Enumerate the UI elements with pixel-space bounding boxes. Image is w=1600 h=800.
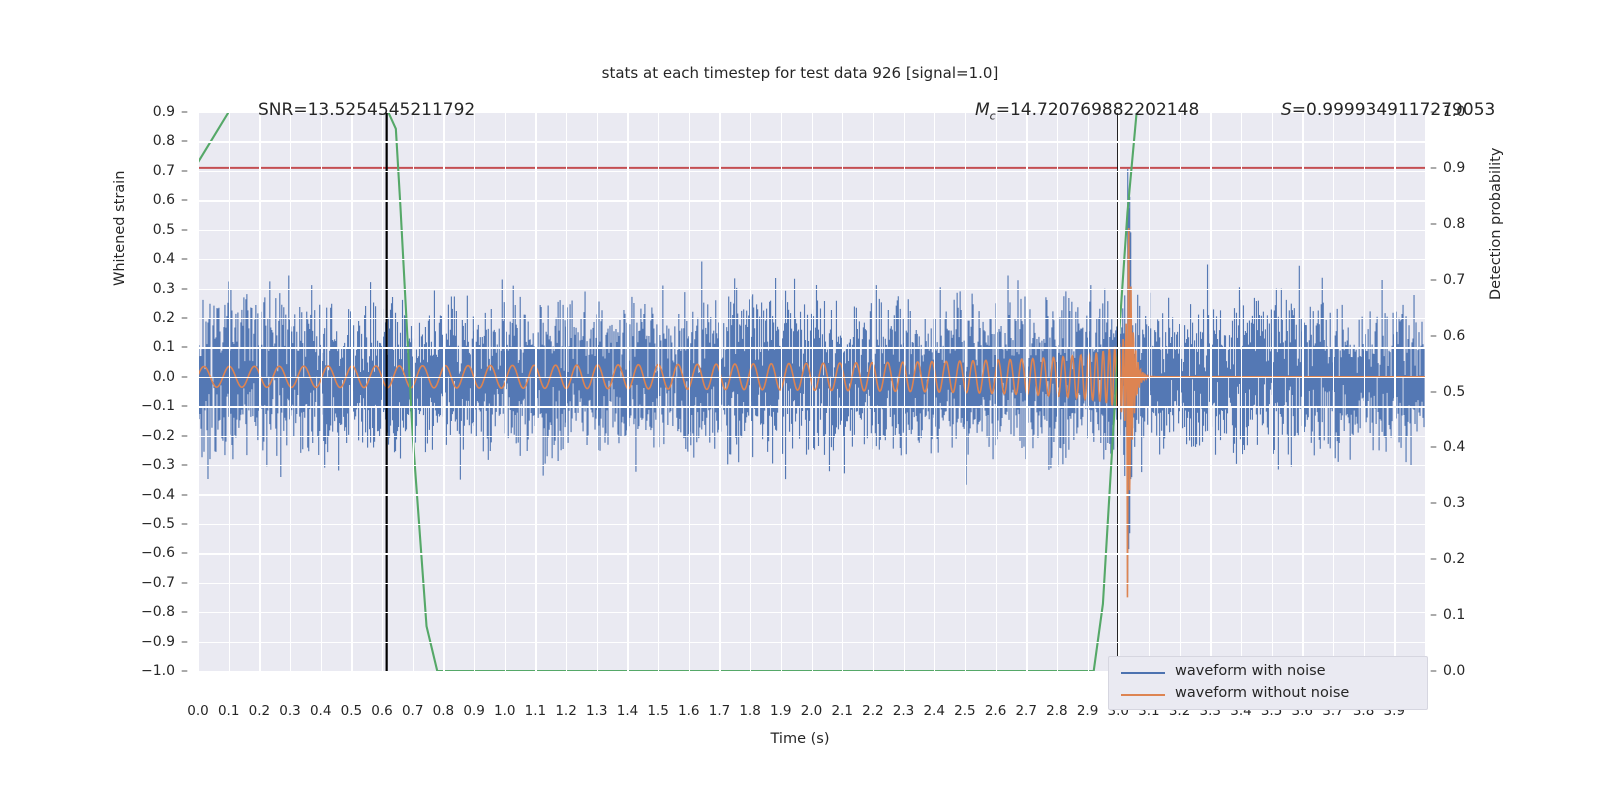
- score-value: 0.9999349117279053: [1306, 100, 1495, 120]
- gridline-vertical: [1180, 112, 1181, 671]
- gridline-vertical: [1057, 112, 1058, 671]
- y-tick-label-right: –0.7: [1430, 271, 1465, 289]
- chirp-mass-value: 14.720769882202148: [1010, 100, 1199, 120]
- gridline-vertical: [627, 112, 628, 671]
- y-tick-label-left: 0.1–: [153, 338, 188, 356]
- legend-item-waveform-with-noise: waveform with noise: [1109, 662, 1427, 684]
- y-tick-label-left: 0.8–: [153, 132, 188, 150]
- gridline-vertical: [290, 112, 291, 671]
- gridline-vertical: [1272, 112, 1273, 671]
- y-tick-label-left: −1.0–: [141, 662, 188, 680]
- snr-value: 13.5254545211792: [308, 100, 476, 120]
- legend-label-noisy: waveform with noise: [1175, 663, 1326, 679]
- gridline-vertical: [1241, 112, 1242, 671]
- chart-title: stats at each timestep for test data 926…: [0, 64, 1600, 82]
- chirp-mass-annotation: Mc=14.720769882202148: [975, 100, 1199, 122]
- y-tick-label-left: 0.6–: [153, 191, 188, 209]
- y-tick-label-right: –0.5: [1430, 383, 1465, 401]
- y-tick-label-right: –0.9: [1430, 159, 1465, 177]
- y-tick-label-right: –0.2: [1430, 550, 1465, 568]
- y-tick-label-left: −0.1–: [141, 397, 188, 415]
- y-tick-label-right: –0.1: [1430, 606, 1465, 624]
- gridline-vertical: [658, 112, 659, 671]
- gridline-vertical: [996, 112, 997, 671]
- plot-area: [198, 112, 1425, 671]
- gridline-vertical: [351, 112, 352, 671]
- gridline-vertical: [1118, 112, 1119, 671]
- legend: waveform with noise waveform without noi…: [1108, 656, 1428, 710]
- gridline-vertical: [198, 112, 199, 671]
- y-tick-label-right: –0.3: [1430, 494, 1465, 512]
- gridline-vertical: [1088, 112, 1089, 671]
- y-tick-label-right: –0.8: [1430, 215, 1465, 233]
- y-tick-label-left: 0.5–: [153, 221, 188, 239]
- y-tick-label-right: –0.4: [1430, 438, 1465, 456]
- score-annotation: S=0.9999349117279053: [1281, 100, 1495, 120]
- gridline-vertical: [1302, 112, 1303, 671]
- y-tick-label-left: 0.4–: [153, 250, 188, 268]
- y-tick-label-left: −0.6–: [141, 544, 188, 562]
- y-tick-label-left: 0.9–: [153, 103, 188, 121]
- gridline-vertical: [750, 112, 751, 671]
- y-tick-label-left: −0.2–: [141, 427, 188, 445]
- gridline-vertical: [566, 112, 567, 671]
- gridline-vertical: [904, 112, 905, 671]
- gridline-vertical: [474, 112, 475, 671]
- gridline-vertical: [321, 112, 322, 671]
- chirp-mass-symbol: M: [975, 100, 990, 120]
- snr-annotation: SNR=13.5254545211792: [258, 100, 475, 120]
- snr-label: SNR=: [258, 100, 308, 120]
- gridline-vertical: [535, 112, 536, 671]
- x-axis-label: Time (s): [0, 731, 1600, 747]
- gridline-vertical: [229, 112, 230, 671]
- gridline-vertical: [965, 112, 966, 671]
- gridline-vertical: [382, 112, 383, 671]
- gridline-vertical: [689, 112, 690, 671]
- y-axis-label-left: Whitened strain: [112, 171, 128, 286]
- legend-label-clean: waveform without noise: [1175, 685, 1349, 701]
- gridline-vertical: [1394, 112, 1395, 671]
- y-tick-label-right: –0.0: [1430, 662, 1465, 680]
- gridline-vertical: [1210, 112, 1211, 671]
- y-tick-label-left: −0.8–: [141, 603, 188, 621]
- gridline-vertical: [413, 112, 414, 671]
- y-tick-label-left: 0.0–: [153, 368, 188, 386]
- y-tick-label-left: −0.3–: [141, 456, 188, 474]
- y-tick-label-left: −0.5–: [141, 515, 188, 533]
- gridline-vertical: [505, 112, 506, 671]
- gridline-vertical: [1149, 112, 1150, 671]
- gridline-vertical: [873, 112, 874, 671]
- y-tick-label-left: 0.7–: [153, 162, 188, 180]
- gridline-vertical: [842, 112, 843, 671]
- gridline-vertical: [1333, 112, 1334, 671]
- gridline-vertical: [934, 112, 935, 671]
- gridline-vertical: [259, 112, 260, 671]
- gridline-vertical: [719, 112, 720, 671]
- y-tick-label-left: 0.2–: [153, 309, 188, 327]
- gridline-vertical: [781, 112, 782, 671]
- y-axis-label-right: Detection probability: [1488, 148, 1504, 300]
- y-tick-label-right: –0.6: [1430, 327, 1465, 345]
- y-tick-label-left: −0.4–: [141, 486, 188, 504]
- gridline-vertical: [597, 112, 598, 671]
- gridline-vertical: [1026, 112, 1027, 671]
- y-tick-label-left: −0.7–: [141, 574, 188, 592]
- legend-item-waveform-without-noise: waveform without noise: [1109, 684, 1427, 706]
- legend-swatch-clean: [1121, 694, 1165, 696]
- y-tick-label-left: 0.3–: [153, 280, 188, 298]
- score-symbol: S: [1281, 100, 1292, 120]
- gridline-vertical: [812, 112, 813, 671]
- y-tick-label-left: −0.9–: [141, 633, 188, 651]
- gridline-vertical: [1364, 112, 1365, 671]
- chirp-mass-equals: =: [996, 100, 1010, 120]
- score-equals: =: [1292, 100, 1306, 120]
- gridline-vertical: [443, 112, 444, 671]
- legend-swatch-noisy: [1121, 672, 1165, 674]
